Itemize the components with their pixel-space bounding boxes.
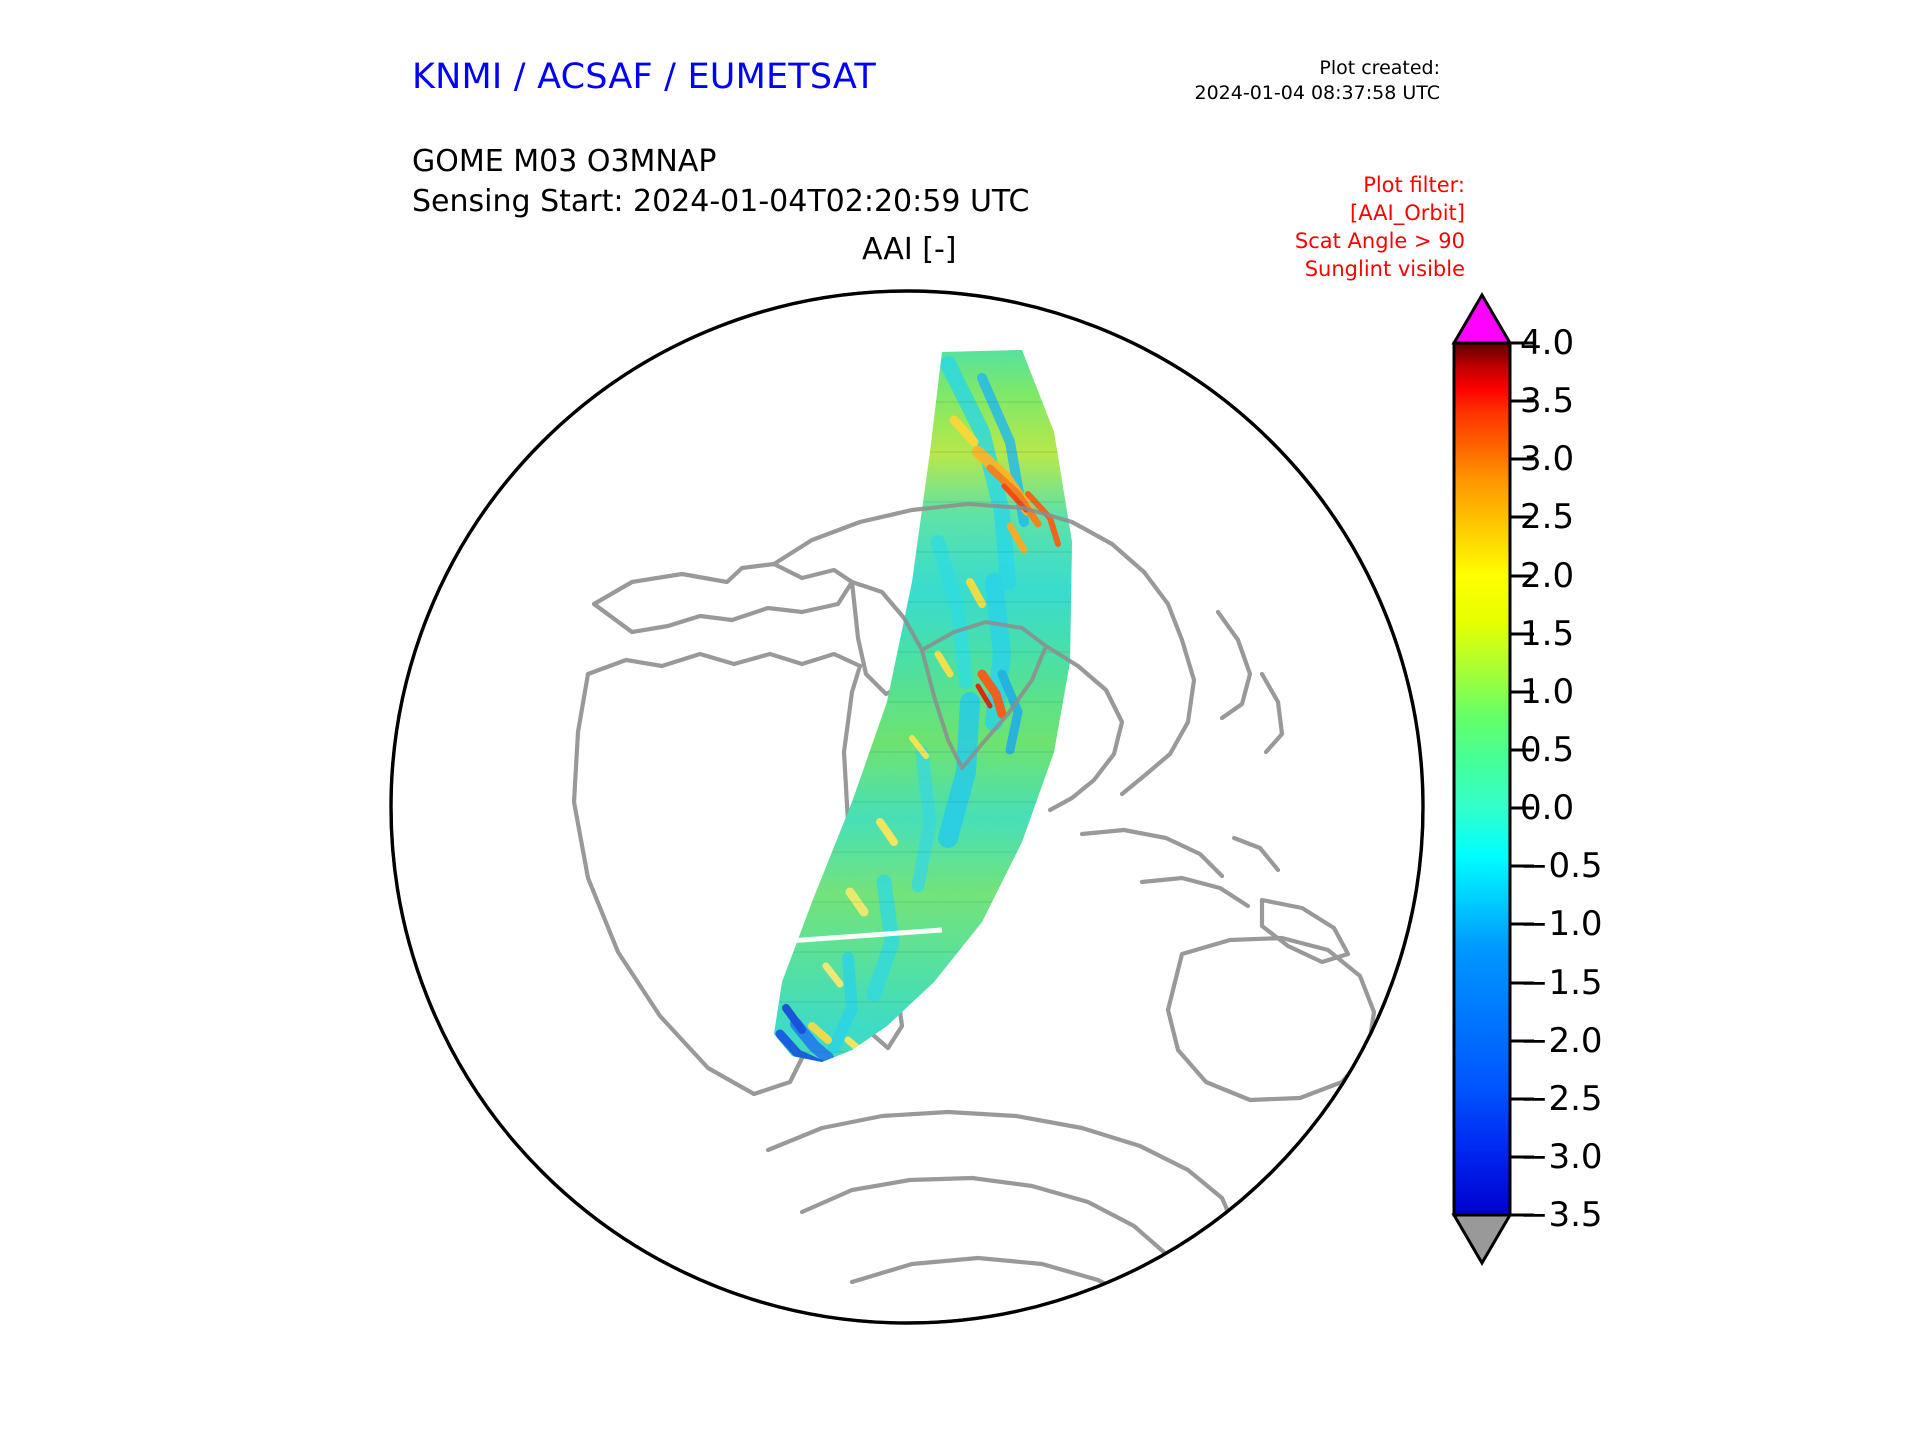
colorbar-tick-label: −2.5 — [1520, 1079, 1603, 1119]
colorbar-tick-label: 3.5 — [1520, 381, 1574, 421]
plot-title-block: GOME M03 O3MNAP Sensing Start: 2024-01-0… — [412, 142, 1029, 222]
variable-label: AAI [-] — [862, 232, 957, 267]
colorbar-tick-label: 1.5 — [1520, 614, 1574, 654]
filter-line-4: Sunglint visible — [1295, 256, 1465, 284]
organization-title: KNMI / ACSAF / EUMETSAT — [412, 57, 876, 97]
colorbar-tick-label: −3.0 — [1520, 1137, 1603, 1177]
instrument-title: GOME M03 O3MNAP — [412, 142, 1029, 182]
colorbar-tick-label: 0.5 — [1520, 730, 1574, 770]
colorbar: 4.0 3.5 3.0 2.5 2.0 1.5 1.0 0.5 0.0 −0.5… — [1448, 285, 1748, 1305]
plot-created-label: Plot created: — [1195, 56, 1441, 81]
filter-line-3: Scat Angle > 90 — [1295, 228, 1465, 256]
colorbar-tick-label: 1.0 — [1520, 672, 1574, 712]
colorbar-tick-label: 2.5 — [1520, 497, 1574, 537]
sensing-start-title: Sensing Start: 2024-01-04T02:20:59 UTC — [412, 182, 1029, 222]
colorbar-tick-label: −1.0 — [1520, 904, 1603, 944]
colorbar-tick-label: −2.0 — [1520, 1021, 1603, 1061]
colorbar-tick-label: 3.0 — [1520, 439, 1574, 479]
plot-created-block: Plot created: 2024-01-04 08:37:58 UTC — [1195, 56, 1441, 106]
colorbar-tick-label: 2.0 — [1520, 556, 1574, 596]
colorbar-tick-label: 0.0 — [1520, 788, 1574, 828]
colorbar-tick-label: −1.5 — [1520, 963, 1603, 1003]
filter-line-1: Plot filter: — [1295, 172, 1465, 200]
colorbar-extend-over-arrow — [1454, 295, 1510, 343]
colorbar-tick-label: −0.5 — [1520, 846, 1603, 886]
orthographic-map — [382, 282, 1432, 1332]
plot-page: KNMI / ACSAF / EUMETSAT Plot created: 20… — [0, 0, 1920, 1440]
colorbar-tick-label: 4.0 — [1520, 323, 1574, 363]
filter-line-2: [AAI_Orbit] — [1295, 200, 1465, 228]
plot-filter-block: Plot filter: [AAI_Orbit] Scat Angle > 90… — [1295, 172, 1465, 284]
colorbar-gradient — [1454, 343, 1510, 1215]
colorbar-extend-under-arrow — [1454, 1215, 1510, 1263]
plot-created-timestamp: 2024-01-04 08:37:58 UTC — [1195, 81, 1441, 106]
colorbar-tick-label: −3.5 — [1520, 1195, 1603, 1235]
